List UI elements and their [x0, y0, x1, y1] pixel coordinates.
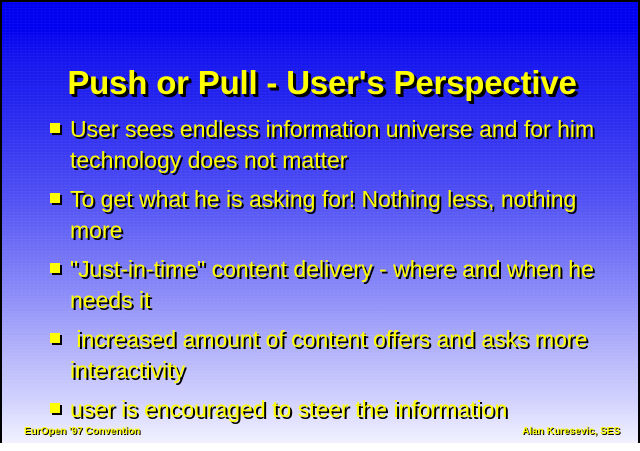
bullet-list: User sees endless information universe a… — [48, 114, 628, 433]
list-item-text: User sees endless information universe a… — [70, 114, 628, 176]
title-area: Push or Pull - User's Perspective — [2, 42, 640, 124]
slide-footer: EurOpen '97 Convention Alan Kuresevic, S… — [2, 425, 640, 441]
list-item: increased amount of content offers and a… — [48, 324, 628, 386]
list-item-text: To get what he is asking for! Nothing le… — [70, 184, 628, 246]
square-bullet-icon — [50, 193, 60, 203]
square-bullet-icon — [50, 403, 60, 413]
list-item: user is encouraged to steer the informat… — [48, 394, 628, 425]
list-item-text: "Just-in-time" content delivery - where … — [70, 254, 628, 316]
page-title: Push or Pull - User's Perspective — [67, 64, 576, 102]
list-item-text: user is encouraged to steer the informat… — [70, 394, 628, 425]
list-item: "Just-in-time" content delivery - where … — [48, 254, 628, 316]
list-item: User sees endless information universe a… — [48, 114, 628, 176]
bottom-margin-strip — [0, 443, 640, 451]
list-item-text: increased amount of content offers and a… — [70, 324, 628, 386]
presentation-slide: Push or Pull - User's Perspective User s… — [0, 0, 640, 443]
square-bullet-icon — [50, 123, 60, 133]
square-bullet-icon — [50, 263, 60, 273]
footer-author-name: Alan Kuresevic, SES — [522, 425, 620, 439]
footer-event-name: EurOpen '97 Convention — [24, 425, 140, 439]
list-item: To get what he is asking for! Nothing le… — [48, 184, 628, 246]
square-bullet-icon — [50, 333, 60, 343]
